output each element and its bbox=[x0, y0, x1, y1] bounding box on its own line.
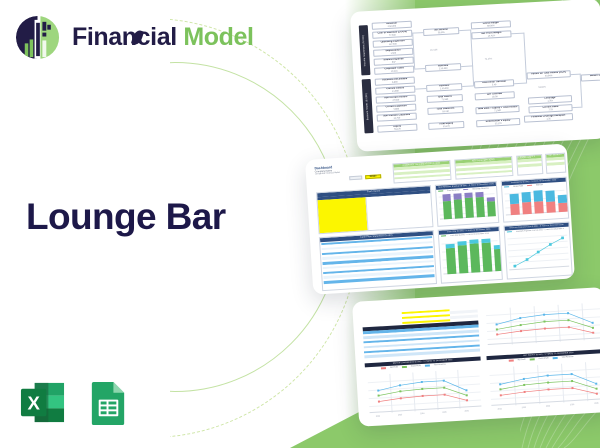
brand-name-part2: Model bbox=[183, 23, 253, 51]
flow-box: Leverage 1.35x bbox=[528, 95, 572, 104]
flow-box: Revenue 2,50,000 bbox=[425, 63, 461, 72]
flow-box: Return on Total Assets (ROA) 53.84% bbox=[527, 70, 571, 79]
flow-ratio-label: 15.41% bbox=[430, 49, 438, 51]
flow-box: Gross Margin 69.00% bbox=[471, 20, 511, 29]
panel-summary-assumptions: SUMMARY TABLE & ASSUMPTIONS bbox=[516, 154, 543, 176]
panel-cash-flow-statement: Cash Flow Statement ($ 000) bbox=[319, 230, 437, 291]
flow-box: Corporate Taxes 10,215 bbox=[374, 66, 414, 75]
flowchart-diagram: Income Statement ($ 000) Balance Sheet (… bbox=[359, 13, 565, 140]
flow-box: Total Asset Turnover 3.49 bbox=[474, 79, 514, 88]
flow-box: A/R Turnover 28.09 bbox=[475, 91, 515, 100]
page-title: Lounge Bar bbox=[26, 196, 226, 238]
logo-circular-bar-chart-icon bbox=[14, 14, 61, 61]
band-income-statement: Income Statement ($ 000) bbox=[359, 25, 371, 75]
reset-button[interactable]: RESET bbox=[365, 174, 381, 179]
flow-box: Total Assets 71,580 bbox=[427, 94, 463, 103]
flow-box: Total Equity 53,170 bbox=[428, 121, 464, 130]
flow-box: Total Debt = Equity + Total Assets 71,58… bbox=[475, 105, 519, 114]
brand-name-part1: Financial bbox=[72, 23, 183, 51]
google-sheets-icon[interactable] bbox=[85, 379, 132, 426]
flow-box: Revenue 2,50,000 bbox=[426, 83, 462, 92]
flow-box: Interest Expense 637 bbox=[374, 57, 414, 66]
svg-text:X: X bbox=[27, 392, 40, 413]
flow-box: Financial Leverage multiplier 1.35 bbox=[524, 113, 573, 123]
flow-box: Cost of Revenue (COGS) 77,500 bbox=[372, 30, 412, 39]
flow-box: Operating Expenses 117,500 bbox=[373, 39, 413, 48]
panel-key-assumptions: KEY ASSUMPTIONS bbox=[454, 156, 513, 180]
poster-canvas: Financial Model Lounge Bar X bbox=[0, 0, 600, 448]
flow-box: Non-Current Liabilities 12,750 bbox=[377, 113, 417, 122]
dashboard-note: Lounge Bar Financial Model bbox=[315, 172, 340, 176]
card-dupont-flowchart[interactable]: Income Statement ($ 000) Balance Sheet (… bbox=[350, 0, 600, 152]
flow-box: Depreciation 1,500 bbox=[373, 48, 413, 57]
panel-financial-summary-table bbox=[362, 308, 481, 361]
flow-box: Accounts Receivable 8,900 bbox=[375, 77, 415, 86]
flow-box: Non Current Assets 27,500 bbox=[376, 95, 416, 104]
panel-investors-payback-chart: Investors Payback Cash ($ 000) - 5 Years… bbox=[504, 222, 573, 280]
file-format-icons: X bbox=[19, 379, 132, 426]
brand-name: Financial Model bbox=[72, 25, 254, 50]
panel-revenue-line-chart bbox=[484, 300, 600, 353]
flow-box: Revenue 2,50,000 bbox=[372, 21, 412, 30]
flow-box: Shareholder's Equity 53,170 bbox=[476, 118, 520, 127]
panel-revenue-breakup-chart: Total Revenue Breakup ($ 000) - 5 Years … bbox=[435, 181, 500, 227]
panel-profitability-chart: Profitability ($ 000) - 5 Years to Decem… bbox=[501, 177, 570, 223]
flow-ratio-label: 72.47% bbox=[485, 58, 493, 60]
flow-box: Net Income 38,535 bbox=[423, 27, 459, 36]
panel-cashflow-chart: Cash flow ($ 000) - 5 Years to December … bbox=[438, 226, 503, 284]
flow-box: Current Liabilities 5,660 bbox=[376, 104, 416, 113]
flow-box: Current Assets 44,080 bbox=[375, 86, 415, 95]
brand-logo: Financial Model bbox=[14, 14, 254, 61]
panel-company-information: COMPANY INFORMATION ($ 000) bbox=[392, 160, 451, 184]
flow-box: Equity 53,170 bbox=[377, 124, 417, 133]
flow-ratio-label: 53.84% bbox=[538, 87, 546, 89]
flow-box-result: Return on Equity (ROE) 72.47% bbox=[581, 72, 600, 81]
flow-box: Total Liabilities 18,410 bbox=[427, 106, 463, 115]
card-financial-dashboard[interactable]: Dashboard Company Name Lounge Bar Financ… bbox=[305, 144, 575, 295]
panel-cash-inputs: Cash Inputs bbox=[316, 185, 433, 234]
band-balance-sheet: Balance Sheet ($ 000) bbox=[362, 79, 374, 133]
card-statement-charts[interactable]: EBITDA COMPARISON ($ 000) - 5 YEARS TO D… bbox=[352, 287, 600, 427]
flow-box: Current Ratio 7.79 bbox=[528, 104, 572, 113]
excel-icon[interactable]: X bbox=[19, 379, 66, 426]
panel-key-metrics: KEY METRICS bbox=[545, 153, 566, 174]
dashboard-toggle[interactable] bbox=[349, 175, 362, 180]
flow-box: Net Profit Margin 15.41% bbox=[471, 30, 511, 39]
